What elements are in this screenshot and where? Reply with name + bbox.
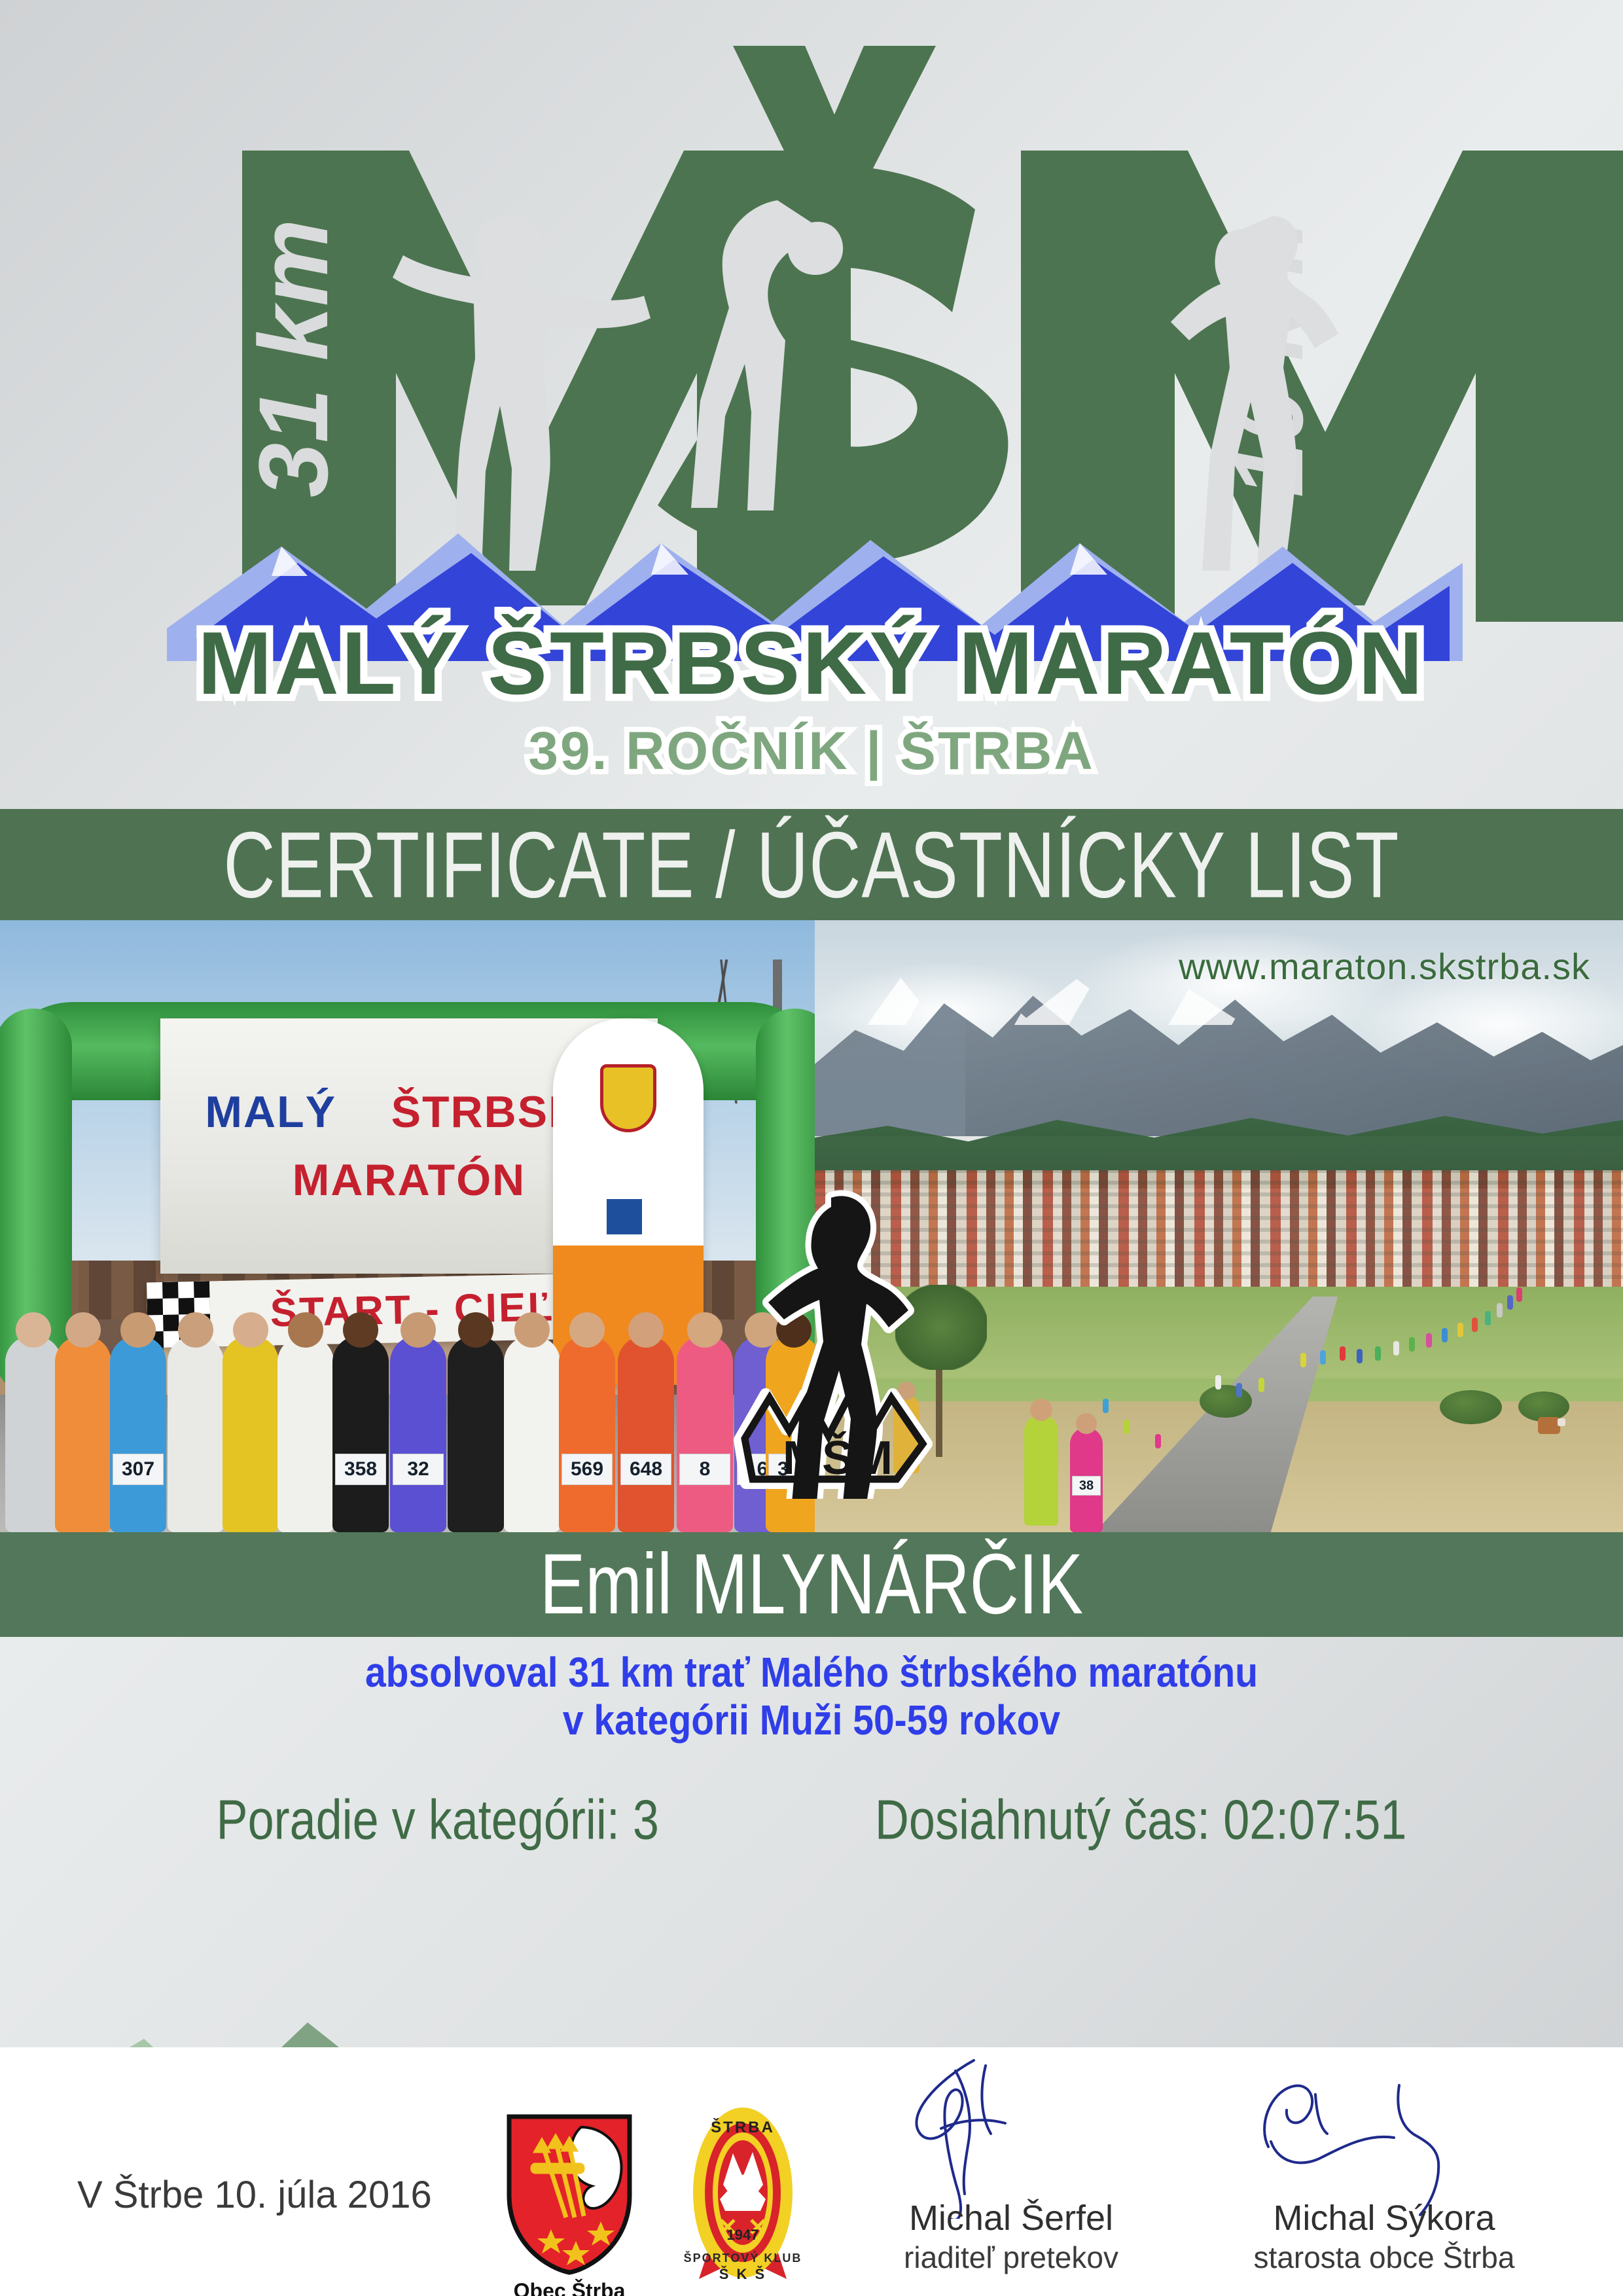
arch-banner-word-maly: MALÝ [205, 1087, 336, 1137]
crowd-runner: 307 [110, 1336, 166, 1532]
event-title: MALÝ ŠTRBSKÝ MARATÓN [198, 613, 1425, 713]
event-website-url: www.maraton.skstrba.sk [1179, 945, 1590, 988]
foreground-runner [1024, 1414, 1058, 1526]
sks-year-label: 1947 [727, 2227, 759, 2243]
runner-bib: 307 [113, 1454, 164, 1485]
crowd-runner [5, 1336, 62, 1532]
signature-mark-sykora [1230, 2055, 1538, 2219]
finish-time: Dosiahnutý čas: 02:07:51 [875, 1789, 1407, 1852]
logo-left-distance: 31 km [238, 219, 348, 497]
signature-role: riaditeľ pretekov [857, 2240, 1165, 2275]
runner-bib: 569 [562, 1454, 613, 1485]
category-rank: Poradie v kategórii: 3 [217, 1789, 659, 1852]
runner-bib: 358 [335, 1454, 386, 1485]
runner-bib: 32 [393, 1454, 444, 1485]
signature-name: Michal Šerfel [857, 2198, 1165, 2238]
crowd-runner: 358 [332, 1336, 389, 1532]
event-logo: 31 km 10 km [0, 0, 1623, 808]
roadside-tree [936, 1336, 942, 1457]
crowd-runner: 32 [390, 1336, 446, 1532]
sks-ring-label: ŠPORTOVÝ KLUB [684, 2251, 802, 2265]
cow [1538, 1417, 1560, 1434]
crowd-runner [55, 1336, 111, 1532]
foreground-runner-pink: 38 [1070, 1427, 1103, 1532]
bush [1440, 1390, 1502, 1424]
runner-bib: 38 [1072, 1476, 1101, 1496]
crowd-runner: 360 [766, 1336, 815, 1532]
event-subtitle: 39. ROČNÍK | ŠTRBA [528, 721, 1094, 781]
crowd-runner [277, 1336, 334, 1532]
certificate-footer: V Štrbe 10. júla 2016 Obec [0, 2075, 1623, 2296]
certificate-page: 31 km 10 km [0, 0, 1623, 2296]
crowd-runner: 648 [618, 1336, 674, 1532]
results-row: Poradie v kategórii: 3 Dosiahnutý čas: 0… [0, 1793, 1623, 1847]
msm-logo-svg: 31 km 10 km [0, 0, 1623, 808]
runner-bib: 360 [768, 1454, 815, 1485]
recipient-name: Emil MLYNÁRČIK [540, 1535, 1083, 1634]
signature-block-mayor: Michal Sýkora starosta obce Štrba [1230, 2075, 1538, 2296]
signature-block-race-director: Michal Šerfel riaditeľ pretekov [857, 2075, 1165, 2296]
crowd-runner [168, 1336, 224, 1532]
certificate-heading: CERTIFICATE / ÚČASTNÍCKY LIST [223, 810, 1399, 918]
crowd-runner [223, 1336, 279, 1532]
achievement-line-2: v kategórii Muži 50-59 rokov [0, 1695, 1623, 1748]
runner-bib: 8 [679, 1454, 730, 1485]
crowd-runner [504, 1336, 560, 1532]
certificate-heading-band: CERTIFICATE / ÚČASTNÍCKY LIST [0, 809, 1623, 920]
logo-left-distance-text: 31 km [238, 219, 348, 497]
photo-course-landscape: 38 www.maraton.skstrba.sk [815, 920, 1623, 1532]
photo-start-line: MALÝ ŠTRBSKÝ MARATÓN ŠTART - CIEĽ 307 [0, 920, 815, 1532]
runner-bib: 648 [620, 1454, 671, 1485]
issue-date: V Štrbe 10. júla 2016 [77, 2173, 432, 2217]
obec-strba-coat-of-arms [504, 2113, 635, 2276]
signature-name: Michal Sýkora [1230, 2198, 1538, 2238]
crowd-runner [448, 1336, 504, 1532]
sks-bottom-label: Š K Š [719, 2266, 766, 2282]
flag-crest-icon [600, 1064, 656, 1132]
crowd-runner: 569 [559, 1336, 615, 1532]
runner-crowd: 307 358 32 569 648 8 6 360 [0, 1257, 815, 1532]
obec-strba-label: Obec Štrba [504, 2279, 635, 2296]
signature-mark-serfel [857, 2055, 1165, 2219]
spectator [893, 1395, 919, 1473]
crosswalk-sign-icon [603, 1195, 646, 1238]
recipient-name-band: Emil MLYNÁRČIK [0, 1532, 1623, 1637]
sks-top-label: ŠTRBA [711, 2118, 775, 2136]
bush [1200, 1385, 1252, 1418]
achievement-line-1: absolvoval 31 km trať Malého štrbského m… [0, 1647, 1623, 1700]
sks-strba-club-emblem: ŠTRBA 1947 ŠPORTOVÝ KLUB Š K Š [674, 2101, 811, 2284]
crowd-runner: 8 [677, 1336, 733, 1532]
achievement-text: absolvoval 31 km trať Malého štrbského m… [0, 1649, 1623, 1745]
photo-strip: MALÝ ŠTRBSKÝ MARATÓN ŠTART - CIEĽ 307 [0, 920, 1623, 1532]
signature-role: starosta obce Štrba [1230, 2240, 1538, 2275]
arch-banner-word-maraton: MARATÓN [293, 1155, 526, 1205]
